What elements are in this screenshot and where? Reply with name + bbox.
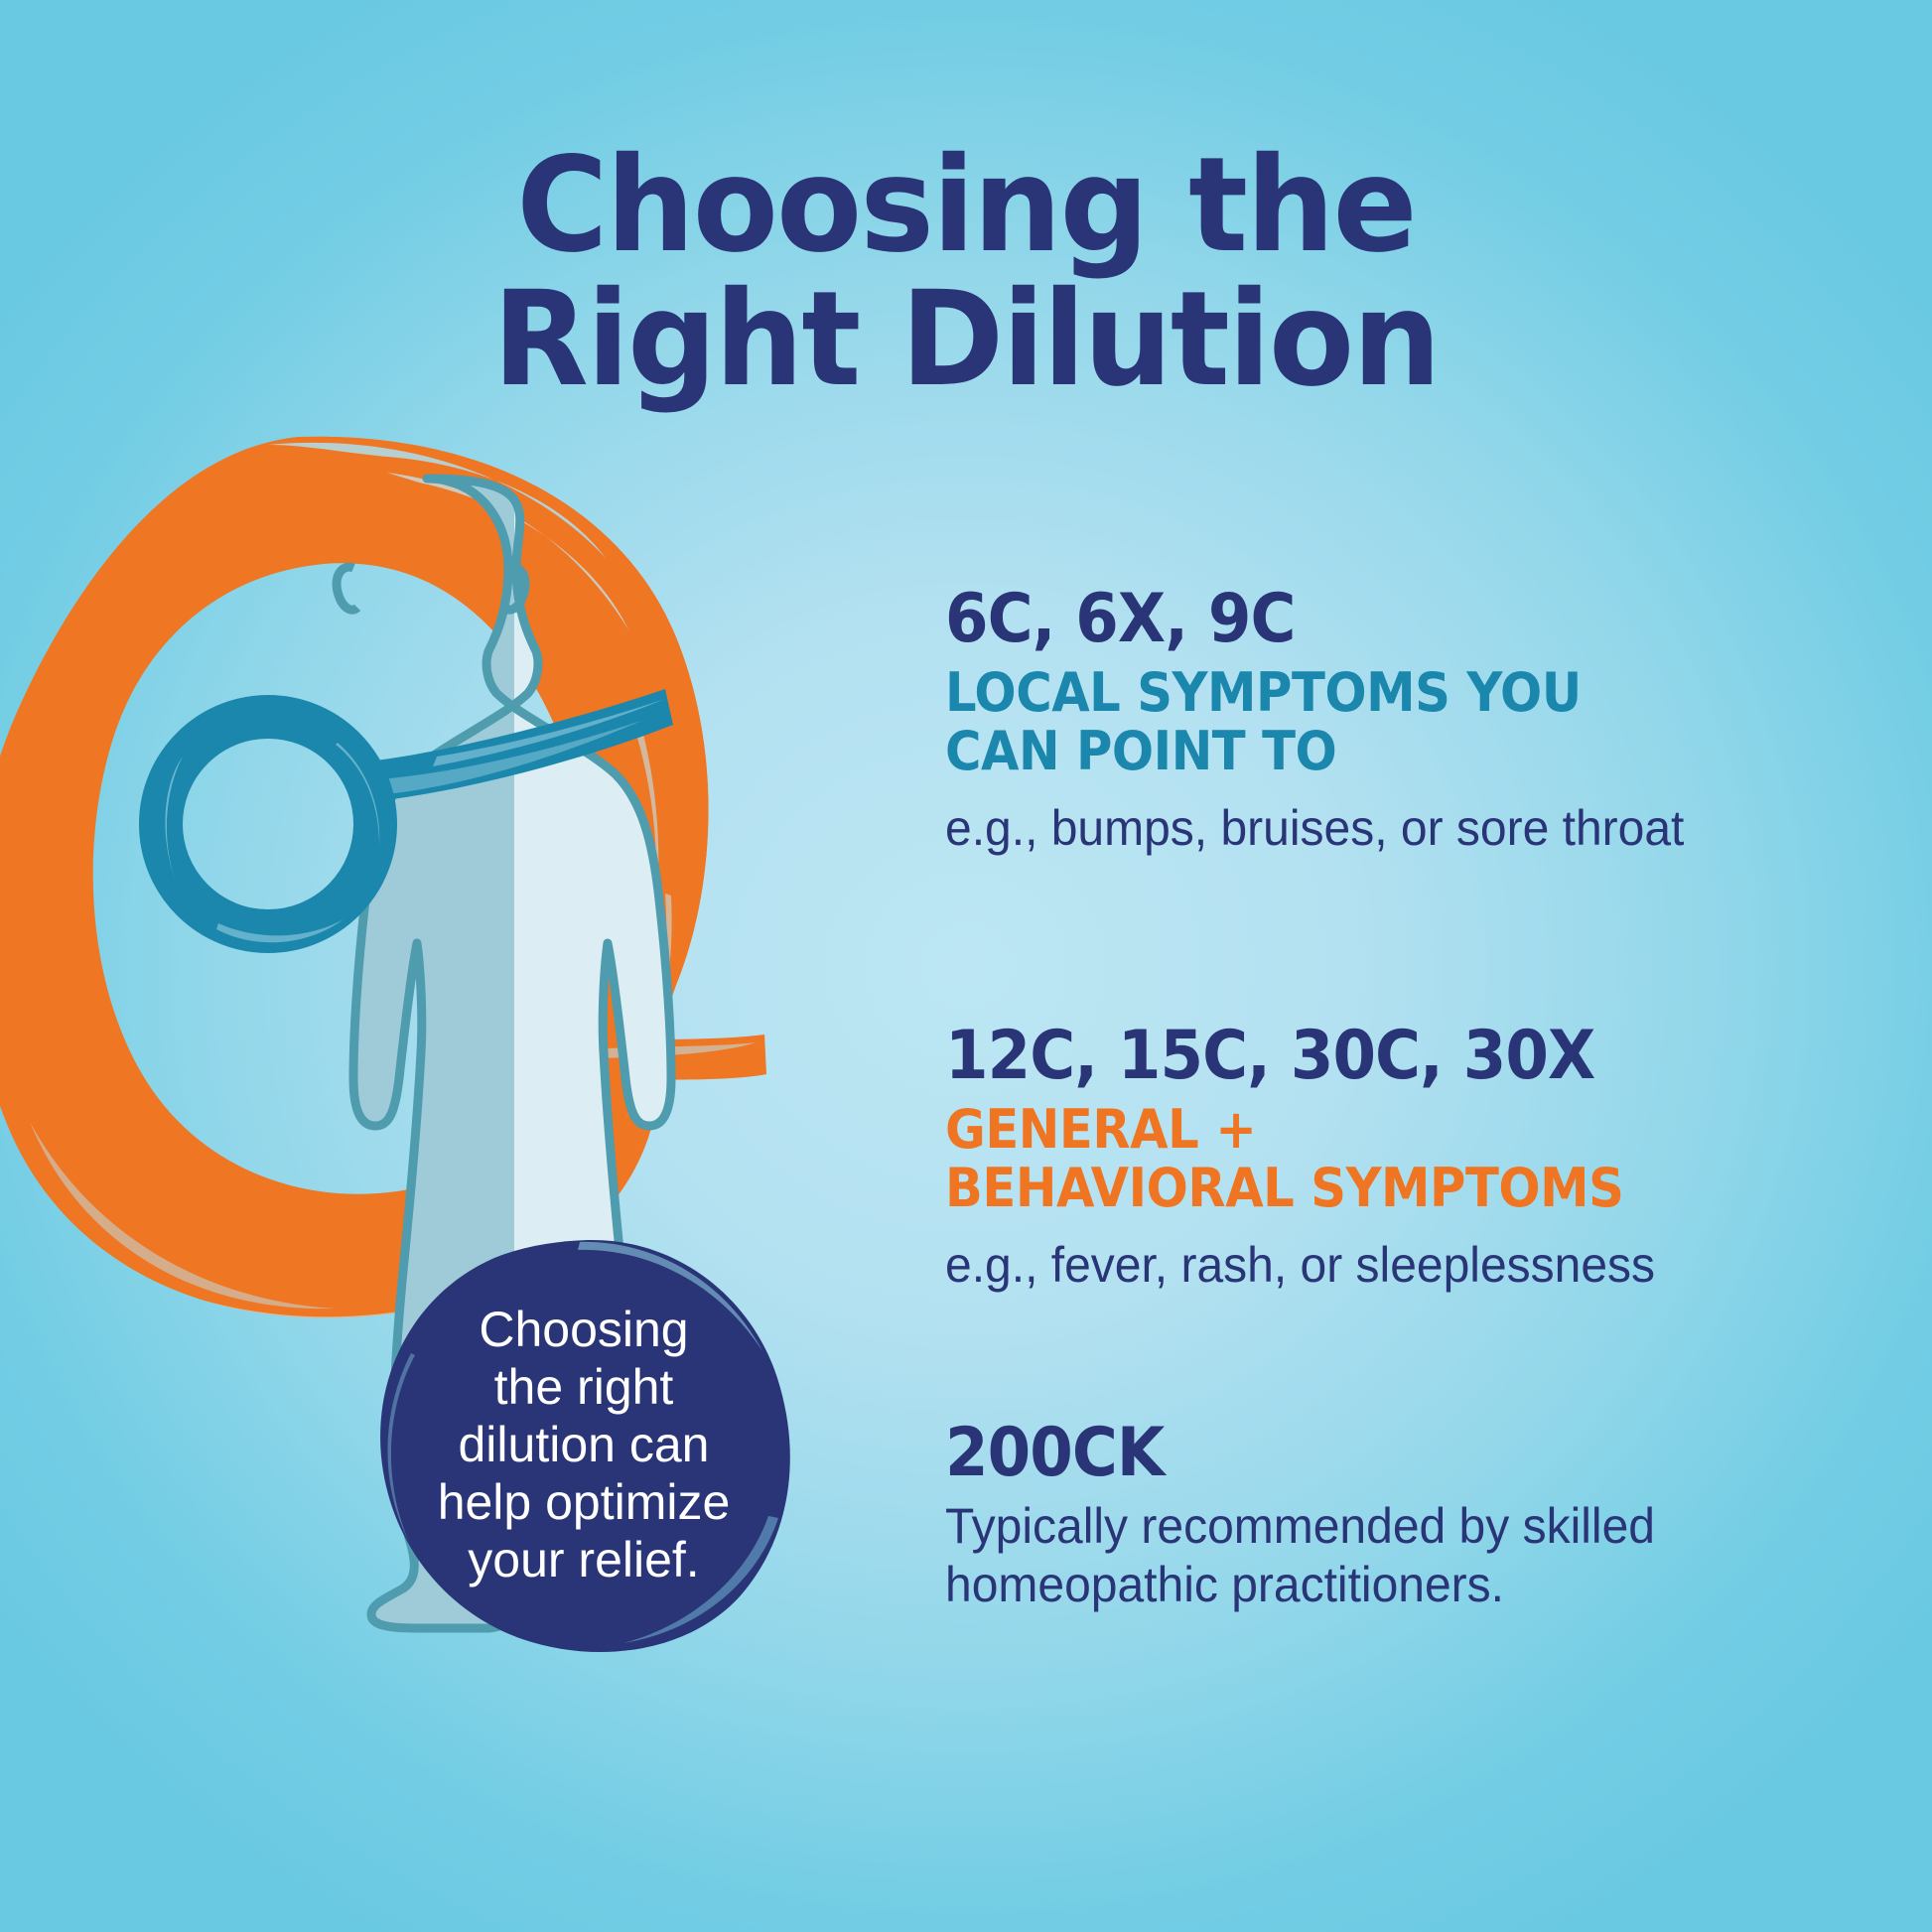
title-line-2: Right Dilution (49, 273, 1884, 407)
section-heading: 200CK (945, 1418, 1625, 1489)
section-heading: 6C, 6X, 9C (945, 584, 1653, 655)
badge-text: Choosing the right dilution can help opt… (375, 1236, 792, 1653)
section-example: Typically recommended by skilled homeopa… (945, 1497, 1655, 1614)
title-line-1: Choosing the (49, 139, 1884, 273)
infographic-canvas: Choosing the Right Dilution (0, 0, 1932, 1932)
section-low-potency: 6C, 6X, 9C LOCAL SYMPTOMS YOU CAN POINT … (945, 584, 1715, 858)
section-example: e.g., fever, rash, or sleeplessness (945, 1236, 1655, 1295)
section-subheading: LOCAL SYMPTOMS YOU CAN POINT TO (945, 663, 1653, 781)
section-high-potency: 200CK Typically recommended by skilled h… (945, 1418, 1685, 1614)
section-subheading: GENERAL + BEHAVIORAL SYMPTOMS (945, 1100, 1625, 1218)
section-mid-potency: 12C, 15C, 30C, 30X GENERAL + BEHAVIORAL … (945, 1021, 1685, 1295)
page-title: Choosing the Right Dilution (0, 139, 1932, 406)
section-heading: 12C, 15C, 30C, 30X (945, 1021, 1625, 1092)
summary-badge: Choosing the right dilution can help opt… (375, 1236, 792, 1653)
section-example: e.g., bumps, bruises, or sore throat (945, 799, 1684, 858)
